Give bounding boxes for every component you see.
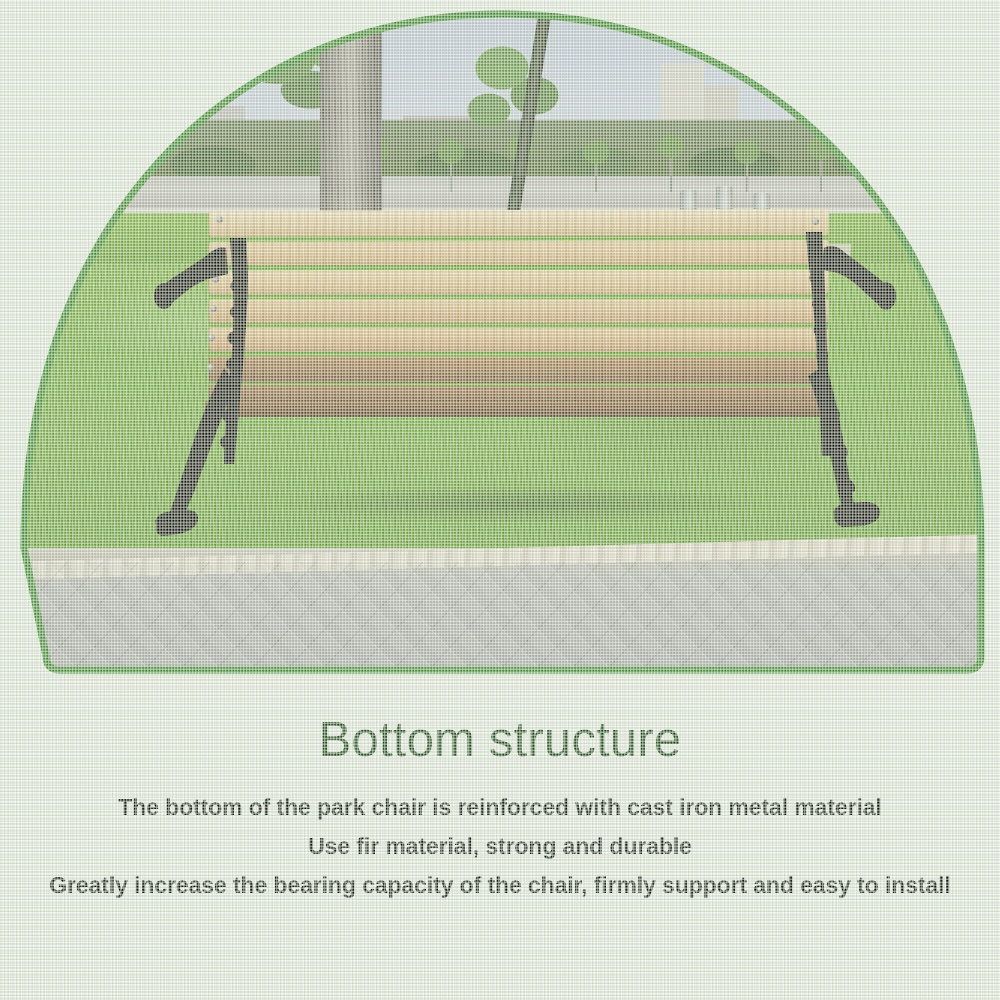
sapling-tree-icon [820, 154, 822, 192]
product-photo [20, 8, 985, 674]
bench-seat-edge [205, 401, 825, 417]
page-title: Bottom structure [0, 700, 1000, 765]
cast-iron-leg-left [152, 238, 272, 543]
caption-line-list: The bottom of the park chair is reinforc… [0, 796, 1000, 897]
park-bench [150, 204, 880, 549]
sapling-tree-icon [670, 152, 672, 192]
wood-slat [209, 299, 829, 323]
caption-line: Use fir material, strong and durable [0, 835, 1000, 858]
wood-slat [209, 356, 829, 383]
tree-canopy [450, 26, 580, 146]
wood-slat [209, 240, 829, 265]
sapling-tree-icon [746, 158, 748, 192]
caption-block: Bottom structure The bottom of the park … [0, 700, 1000, 897]
caption-line: The bottom of the park chair is reinforc… [0, 796, 1000, 819]
bench-backrest [209, 209, 829, 411]
tree-trunk [320, 8, 382, 223]
cast-iron-leg-right [780, 232, 900, 532]
bolt-stud [216, 216, 223, 223]
bolt-stud [812, 218, 819, 225]
sapling-tree-icon [450, 158, 452, 192]
wood-slat [209, 209, 829, 237]
caption-line: Greatly increase the bearing capacity of… [0, 874, 1000, 897]
sapling-tree-icon [595, 158, 597, 192]
wood-slat [209, 270, 829, 295]
herringbone-paving [20, 548, 985, 674]
park-scene [20, 8, 985, 674]
photo-arch-clip [20, 8, 985, 674]
wood-slat [209, 328, 829, 353]
sapling-tree-icon [882, 158, 884, 192]
